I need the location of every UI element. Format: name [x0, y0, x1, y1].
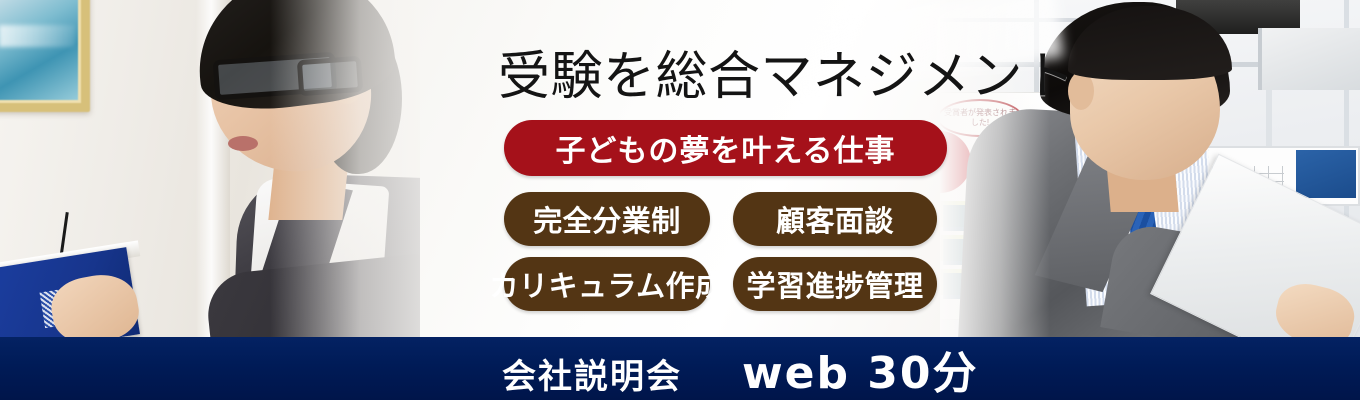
- feature-badge-curriculum: カリキュラム作成: [504, 257, 710, 311]
- feature-badge-row-1: 完全分業制 顧客面談: [504, 192, 937, 246]
- photo-left-consultant: [0, 0, 470, 340]
- feature-badge-row-2: カリキュラム作成 学習進捗管理: [504, 257, 937, 311]
- framed-painting: [0, 0, 90, 112]
- primary-badge-label: 子どもの夢を叶える仕事: [555, 126, 895, 170]
- feature-badge-client-interview: 顧客面談: [733, 192, 937, 246]
- primary-badge: 子どもの夢を叶える仕事: [504, 120, 947, 176]
- recruitment-banner: 受賞者が発表されました! 受験を総合マネジメント: [0, 0, 1360, 400]
- page-title: 受験を総合マネジメント: [498, 34, 1076, 109]
- feature-badge-label: 学習進捗管理: [747, 263, 924, 305]
- feature-badge-label: カリキュラム作成: [489, 263, 724, 305]
- footer-session-label: 会社説明会: [502, 349, 682, 398]
- whiteboard-blue-sign: [1296, 150, 1356, 198]
- feature-badge-division-of-labor: 完全分業制: [504, 192, 710, 246]
- footer-content: 会社説明会 web 30分: [502, 337, 979, 400]
- feature-badge-progress-management: 学習進捗管理: [733, 257, 937, 311]
- feature-badge-label: 完全分業制: [533, 198, 681, 240]
- footer-bar: 会社説明会 web 30分: [0, 337, 1360, 400]
- ceiling-shelf-light: [1258, 28, 1360, 90]
- footer-session-format: web 30分: [742, 337, 979, 400]
- feature-badge-label: 顧客面談: [776, 198, 894, 240]
- left-man-mouth: [228, 136, 258, 151]
